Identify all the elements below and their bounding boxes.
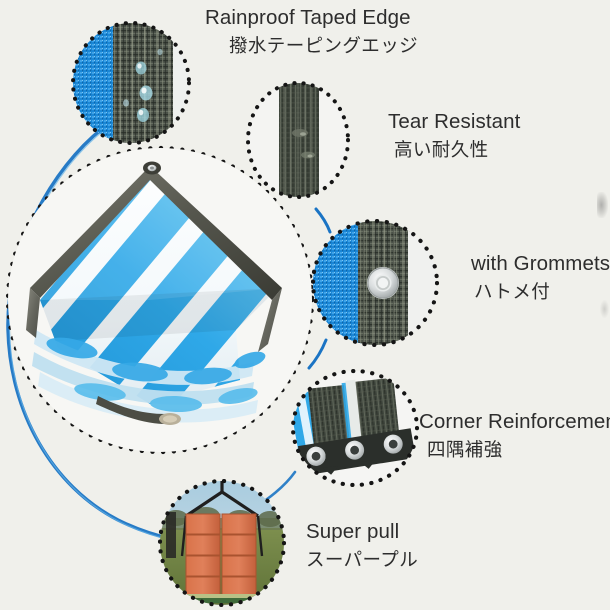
- callout-rainproof-taped-edge: Rainproof Taped Edge 撥水テーピングエッジ: [205, 4, 418, 58]
- photo-super-pull: [160, 481, 284, 605]
- callout-corner-en: Corner Reinforcement: [419, 408, 610, 435]
- callout-grommets-en: with Grommets: [471, 250, 610, 277]
- photo-with-grommets: [313, 221, 438, 345]
- grommet-ring: [367, 267, 399, 299]
- callout-tear-resistant: Tear Resistant 高い耐久性: [388, 108, 520, 162]
- callout-rainproof-en: Rainproof Taped Edge: [205, 4, 418, 31]
- callout-corner-jp: 四隅補強: [419, 438, 610, 462]
- callout-super-jp: スーパープル: [306, 548, 418, 572]
- callout-tear-jp: 高い耐久性: [388, 138, 520, 162]
- photo-tear-resistant: [248, 83, 350, 197]
- infographic-canvas: Rainproof Taped Edge 撥水テーピングエッジ Tear Res…: [0, 0, 610, 610]
- callout-corner-reinforcement: Corner Reinforcement 四隅補強: [419, 408, 610, 462]
- photo-corner-reinforcement: [288, 371, 417, 485]
- callout-rainproof-jp: 撥水テーピングエッジ: [205, 34, 418, 58]
- edge-artifact-smudge-lower: [600, 300, 609, 318]
- edge-artifact-smudge: [597, 192, 608, 218]
- callout-tear-en: Tear Resistant: [388, 108, 520, 135]
- callout-with-grommets: with Grommets ハトメ付: [471, 250, 610, 304]
- callout-grommets-jp: ハトメ付: [471, 280, 610, 304]
- photo-rainproof-taped-edge: [73, 23, 191, 143]
- callout-super-en: Super pull: [306, 518, 418, 545]
- callout-super-pull: Super pull スーパープル: [306, 518, 418, 572]
- infographic-graphics: [0, 0, 610, 610]
